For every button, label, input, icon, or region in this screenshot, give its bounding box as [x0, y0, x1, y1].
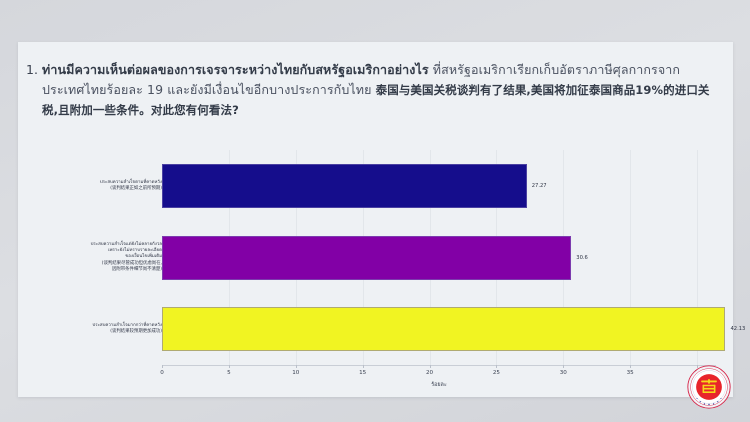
x-tick-label: 35	[627, 369, 634, 377]
x-axis-title: ร้อยละ	[162, 381, 716, 389]
question-block: 1. ท่านมีความเห็นต่อผลของการเจรจาระหว่าง…	[18, 60, 733, 120]
x-tick-label: 15	[359, 369, 366, 377]
bar-value-label: 27.27	[532, 182, 547, 190]
y-axis-category-label: ประสบความสำเร็จตามที่คาดหวัง (谈判结果正如之前所预…	[50, 180, 162, 192]
x-axis-line	[162, 365, 716, 366]
question-number: 1.	[18, 60, 42, 80]
x-tick-mark	[630, 365, 631, 368]
x-tick-mark	[229, 365, 230, 368]
x-tick-label: 30	[560, 369, 567, 377]
x-tick-label: 5	[227, 369, 231, 377]
x-tick-mark	[162, 365, 163, 368]
x-tick-mark	[496, 365, 497, 368]
bar[interactable]	[162, 164, 527, 208]
slide-canvas: 1. ท่านมีความเห็นต่อผลของการเจรจาระหว่าง…	[0, 0, 750, 422]
bar[interactable]	[162, 307, 725, 351]
x-tick-mark	[296, 365, 297, 368]
x-tick-mark	[430, 365, 431, 368]
organization-logo	[686, 364, 732, 410]
y-axis-category-label: ประสบความสำเร็จมากกว่าที่คาดหวัง (谈判结果较预…	[50, 323, 162, 335]
x-tick-label: 20	[426, 369, 433, 377]
bar-value-label: 42.13	[730, 325, 745, 333]
x-tick-label: 25	[493, 369, 500, 377]
x-tick-label: 0	[160, 369, 164, 377]
bar[interactable]	[162, 236, 571, 280]
plot-area: ประสบความสำเร็จตามที่คาดหวัง (谈判结果正如之前所预…	[38, 150, 728, 365]
y-axis-category-label: ประสบความสำเร็จแต่ยังไม่คลายกังวล เพราะย…	[50, 242, 162, 273]
bar-value-label: 30.6	[576, 254, 588, 262]
x-tick-mark	[563, 365, 564, 368]
question-thai-bold: ท่านมีความเห็นต่อผลของการเจรจาระหว่างไทย…	[42, 62, 429, 77]
question-text: ท่านมีความเห็นต่อผลของการเจรจาระหว่างไทย…	[42, 60, 721, 120]
emblem-icon	[686, 364, 732, 410]
bar-chart: ประสบความสำเร็จตามที่คาดหวัง (谈判结果正如之前所预…	[38, 150, 728, 390]
x-tick-mark	[363, 365, 364, 368]
x-tick-label: 10	[292, 369, 299, 377]
content-panel: 1. ท่านมีความเห็นต่อผลของการเจรจาระหว่าง…	[18, 42, 733, 397]
